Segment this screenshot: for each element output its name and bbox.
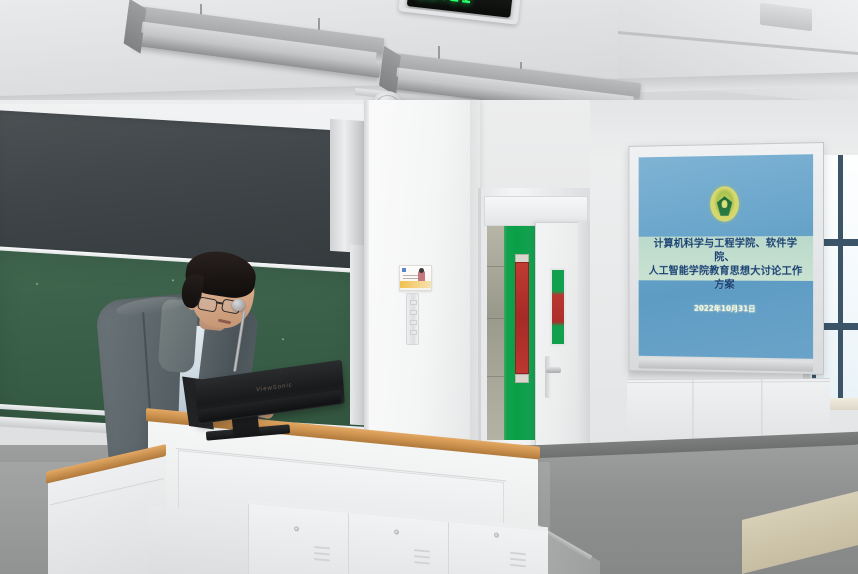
presentation-slide: 计算机科学与工程学院、软件学院、 人工智能学院教育思想大讨论工作方案 2022年… <box>639 154 813 359</box>
light-switch[interactable] <box>410 330 417 335</box>
screen-bottom-batten <box>639 358 813 372</box>
cabinet-door[interactable] <box>248 504 348 574</box>
cabinet-lock-icon[interactable] <box>494 532 499 537</box>
slide-title-line-1: 计算机科学与工程学院、软件学院、 <box>644 237 808 265</box>
light-switch[interactable] <box>410 320 417 325</box>
poster-head-icon <box>419 268 424 273</box>
slide-title-line-2: 人工智能学院教育思想大讨论工作方案 <box>644 265 808 293</box>
emblem-mark <box>722 200 728 208</box>
poster-band <box>400 281 431 288</box>
projected-image: 计算机科学与工程学院、软件学院、 人工智能学院教育思想大讨论工作方案 2022年… <box>639 154 813 359</box>
door-handle[interactable] <box>546 367 561 373</box>
fire-extinguisher-cabinet <box>515 262 529 374</box>
corridor-opening <box>487 226 535 440</box>
slide-title: 计算机科学与工程学院、软件学院、 人工智能学院教育思想大讨论工作方案 <box>644 237 808 292</box>
safety-poster <box>399 265 432 291</box>
wall-column-edge <box>364 100 369 460</box>
cabinet-lock-icon[interactable] <box>294 526 299 531</box>
window-mullion <box>838 155 843 400</box>
light-switch[interactable] <box>410 310 417 315</box>
light-switch-panel[interactable] <box>406 293 419 345</box>
projection-screen: 计算机科学与工程学院、软件学院、 人工智能学院教育思想大讨论工作方案 2022年… <box>628 142 824 375</box>
cabinet-door[interactable] <box>348 513 448 574</box>
fire-cabinet-bottom <box>515 374 529 383</box>
lectern-base <box>148 506 258 574</box>
lecture-hall-photo: 10:21 <box>0 0 858 574</box>
corridor-wall-strip <box>487 226 504 440</box>
poster-tag-icon <box>402 268 406 272</box>
door-vision-panel <box>550 268 566 346</box>
university-emblem-icon <box>710 186 739 222</box>
microphone-icon <box>232 299 245 311</box>
cabinet-lock-icon[interactable] <box>394 529 399 534</box>
projection-screen-case <box>330 119 366 253</box>
light-switch[interactable] <box>410 300 417 305</box>
slide-date: 2022年10月31日 <box>639 302 813 314</box>
cabinet-door[interactable] <box>448 522 548 574</box>
door-lock-plate <box>545 356 551 398</box>
